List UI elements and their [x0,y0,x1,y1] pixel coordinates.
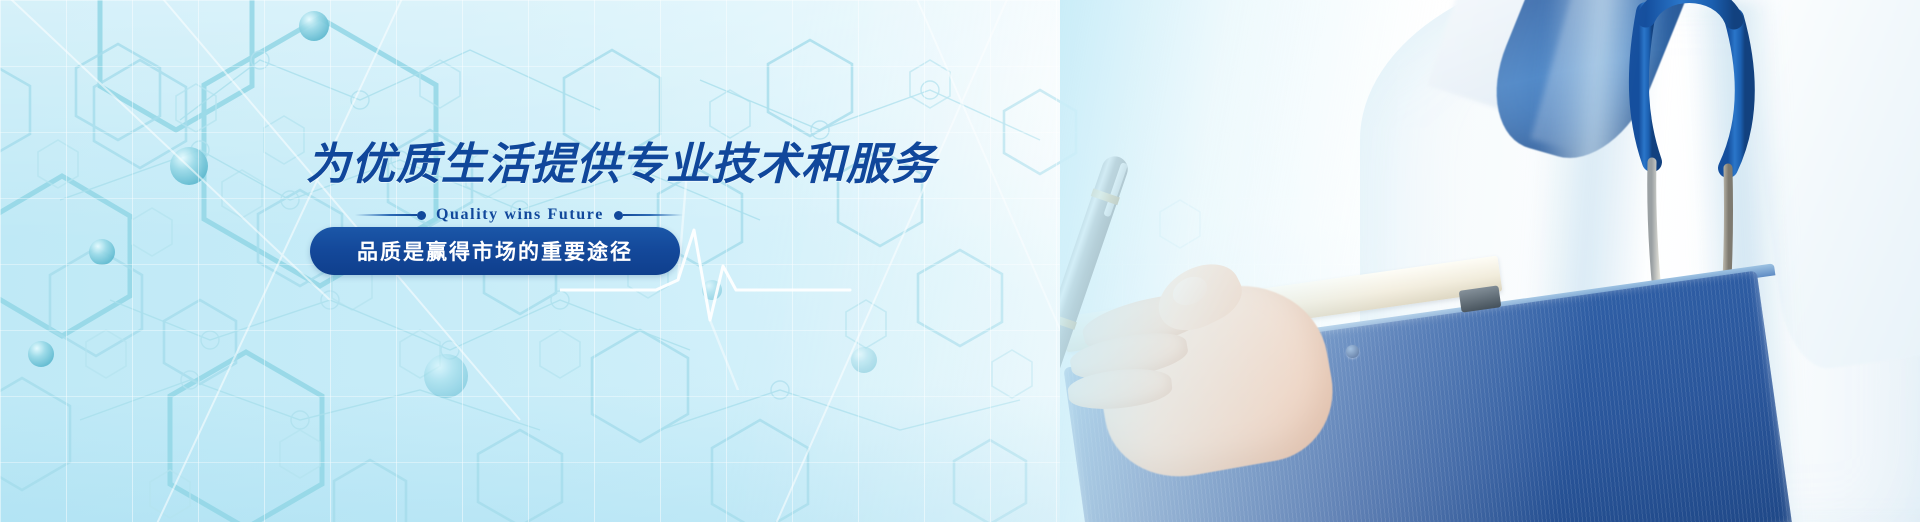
divider-line-left [355,214,417,216]
divider-dot-right [614,211,623,220]
cta-button[interactable]: 品质是赢得市场的重要途径 [310,227,680,275]
divider-line-right [623,214,683,216]
tagline-english: Quality wins Future [426,206,614,224]
banner-headline: 为优质生活提供专业技术和服务 [306,128,936,192]
cta-button-label: 品质是赢得市场的重要途径 [357,236,633,266]
banner-text-block: 为优质生活提供专业技术和服务 Quality wins Future 品质是赢得… [0,0,1920,522]
divider-dot-left [417,211,426,220]
hero-banner: 为优质生活提供专业技术和服务 Quality wins Future 品质是赢得… [0,0,1920,522]
tagline-divider: Quality wins Future [355,205,683,225]
